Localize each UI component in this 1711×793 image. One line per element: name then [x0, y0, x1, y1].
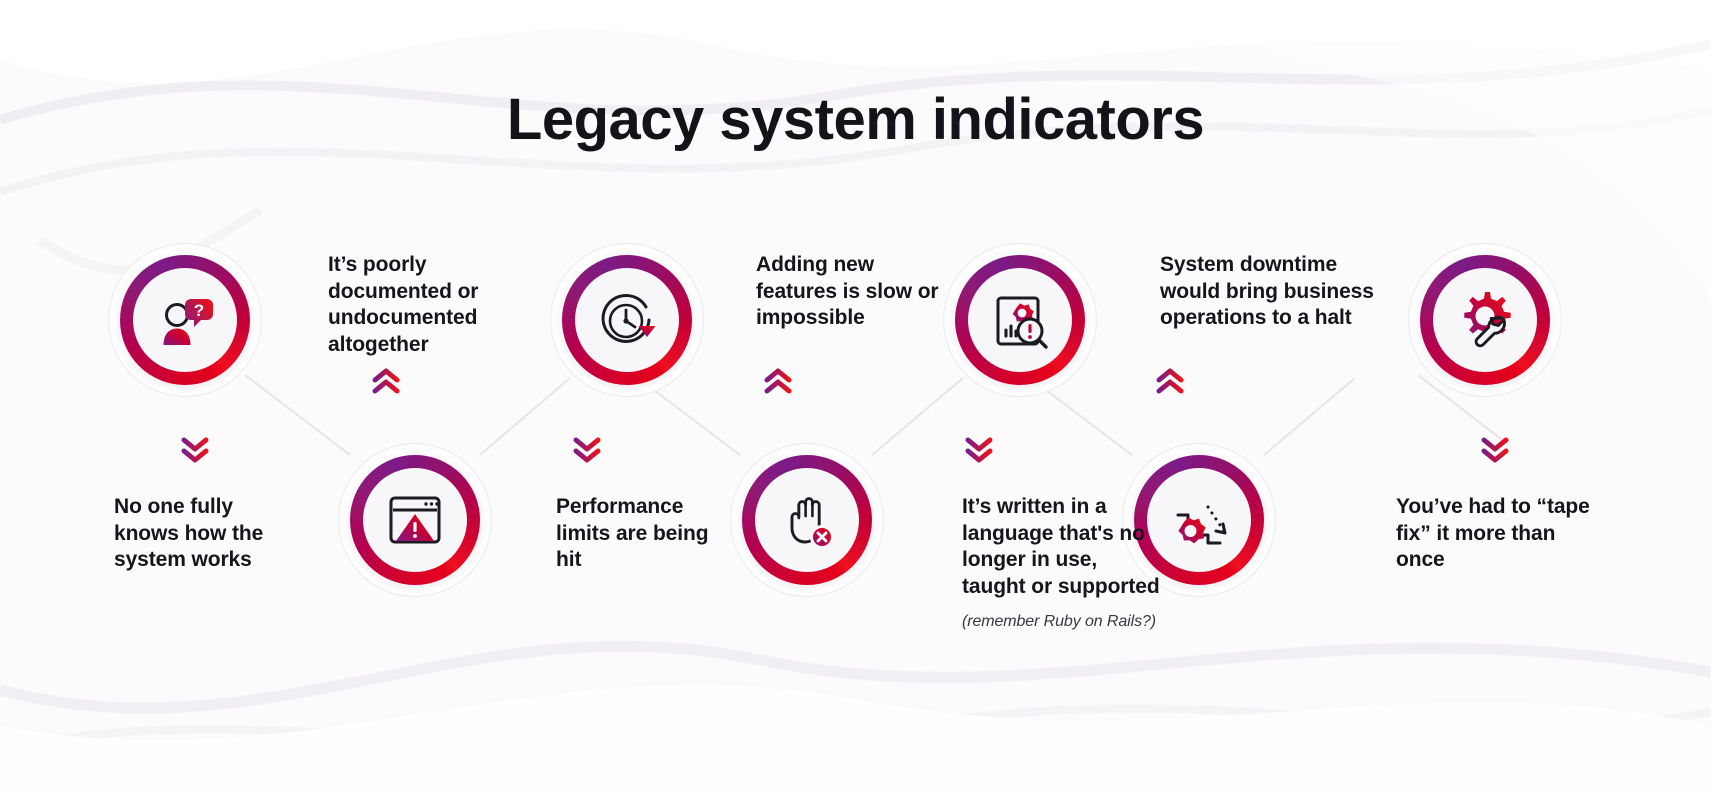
caption-adding-features-slow: Adding new features is slow or impossibl…	[756, 252, 946, 332]
gear-declining-stairs-icon	[1164, 485, 1234, 555]
node-disc	[1147, 468, 1251, 572]
node-disc: ?	[133, 268, 237, 372]
caption-outdated-language: It’s written in a language that's no lon…	[962, 494, 1162, 632]
double-chevron-icon	[1478, 432, 1512, 466]
clock-down-arrow-icon	[592, 285, 662, 355]
stop-hand-error-icon	[772, 485, 842, 555]
double-chevron-icon	[962, 432, 996, 466]
connector-chevron-6	[1153, 363, 1187, 397]
node-poorly-documented[interactable]	[350, 455, 480, 585]
caption-text: It’s written in a language that's no lon…	[962, 495, 1160, 598]
caption-note: (remember Ruby on Rails?)	[962, 612, 1162, 633]
node-disc	[363, 468, 467, 572]
connector-chevron-7	[1478, 432, 1512, 466]
double-chevron-icon	[761, 363, 795, 397]
page-title: Legacy system indicators	[0, 86, 1711, 153]
caption-system-downtime: System downtime would bring business ope…	[1160, 252, 1395, 332]
node-tape-fix[interactable]	[1420, 255, 1550, 385]
connector-chevron-1	[178, 432, 212, 466]
connector-chevron-3	[570, 432, 604, 466]
connector-chevron-4	[761, 363, 795, 397]
node-disc	[755, 468, 859, 572]
node-no-one-knows[interactable]: ?	[120, 255, 250, 385]
caption-no-one-knows: No one fully knows how the system works	[114, 494, 289, 574]
double-chevron-icon	[178, 432, 212, 466]
node-disc	[1433, 268, 1537, 372]
connector-chevron-2	[369, 363, 403, 397]
node-outdated-language[interactable]	[955, 255, 1085, 385]
node-adding-features-slow[interactable]	[742, 455, 872, 585]
node-disc	[968, 268, 1072, 372]
report-gear-magnifier-alert-icon	[985, 285, 1055, 355]
caption-tape-fix: You’ve had to “tape fix” it more than on…	[1396, 494, 1591, 574]
connector-chevron-5	[962, 432, 996, 466]
caption-poorly-documented: It’s poorly documented or undocumented a…	[328, 252, 518, 359]
node-disc	[575, 268, 679, 372]
caption-performance-limits: Performance limits are being hit	[556, 494, 731, 574]
double-chevron-icon	[1153, 363, 1187, 397]
double-chevron-icon	[369, 363, 403, 397]
node-performance-limits[interactable]	[562, 255, 692, 385]
double-chevron-icon	[570, 432, 604, 466]
person-question-icon: ?	[150, 285, 220, 355]
svg-text:?: ?	[194, 301, 204, 320]
gear-wrench-icon	[1450, 285, 1520, 355]
browser-warning-icon	[380, 485, 450, 555]
